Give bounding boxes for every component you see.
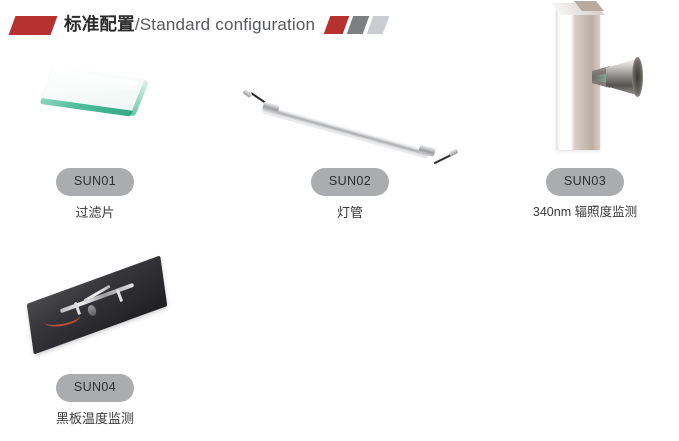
header-decorative-bars-icon xyxy=(327,16,386,34)
product-image-black-panel xyxy=(10,258,180,368)
product-labels: SUN01 过滤片 xyxy=(10,168,180,220)
product-image-irradiance-sensor xyxy=(500,52,670,162)
black-panel-temperature-monitor-icon xyxy=(22,270,172,356)
lamp-tip-right xyxy=(448,148,458,156)
product-caption: 黑板温度监测 xyxy=(10,411,180,427)
product-caption: 过滤片 xyxy=(10,205,180,221)
page-title-cn: 标准配置 xyxy=(64,14,135,34)
product-code-badge: SUN04 xyxy=(56,374,134,402)
page-title: 标准配置/Standard configuration xyxy=(64,16,315,34)
irradiance-sensor-icon xyxy=(528,10,648,160)
product-code-badge: SUN01 xyxy=(56,168,134,196)
product-caption: 灯管 xyxy=(265,205,435,221)
sensor-cone-mouth xyxy=(632,57,643,97)
product-labels: SUN02 灯管 xyxy=(265,168,435,220)
lamp-tip-left xyxy=(242,89,252,98)
lamp-tube-icon xyxy=(243,70,461,146)
glass-filter-plate-icon xyxy=(38,67,145,120)
product-labels: SUN04 黑板温度监测 xyxy=(10,374,180,426)
product-caption: 340nm 辐照度监测 xyxy=(500,205,670,220)
product-card-sun03[interactable]: SUN03 340nm 辐照度监测 xyxy=(500,52,670,220)
product-image-lamp-tube xyxy=(265,52,435,162)
product-code-badge: SUN03 xyxy=(546,168,624,196)
header-bar-lightgray-icon xyxy=(367,16,390,34)
product-card-sun04[interactable]: SUN04 黑板温度监测 xyxy=(10,258,180,426)
header-bar-red-icon xyxy=(324,16,350,34)
page-title-en: /Standard configuration xyxy=(135,15,315,34)
black-board xyxy=(27,255,168,354)
product-labels: SUN03 340nm 辐照度监测 xyxy=(500,168,670,220)
header-bar-darkgray-icon xyxy=(347,16,370,34)
product-card-sun01[interactable]: SUN01 过滤片 xyxy=(10,52,180,220)
product-card-sun02[interactable]: SUN02 灯管 xyxy=(265,52,435,220)
product-image-filter-plate xyxy=(10,52,180,162)
lamp-glass-tube xyxy=(262,104,430,158)
header-accent-mark-icon xyxy=(9,16,58,35)
product-code-badge: SUN02 xyxy=(311,168,389,196)
